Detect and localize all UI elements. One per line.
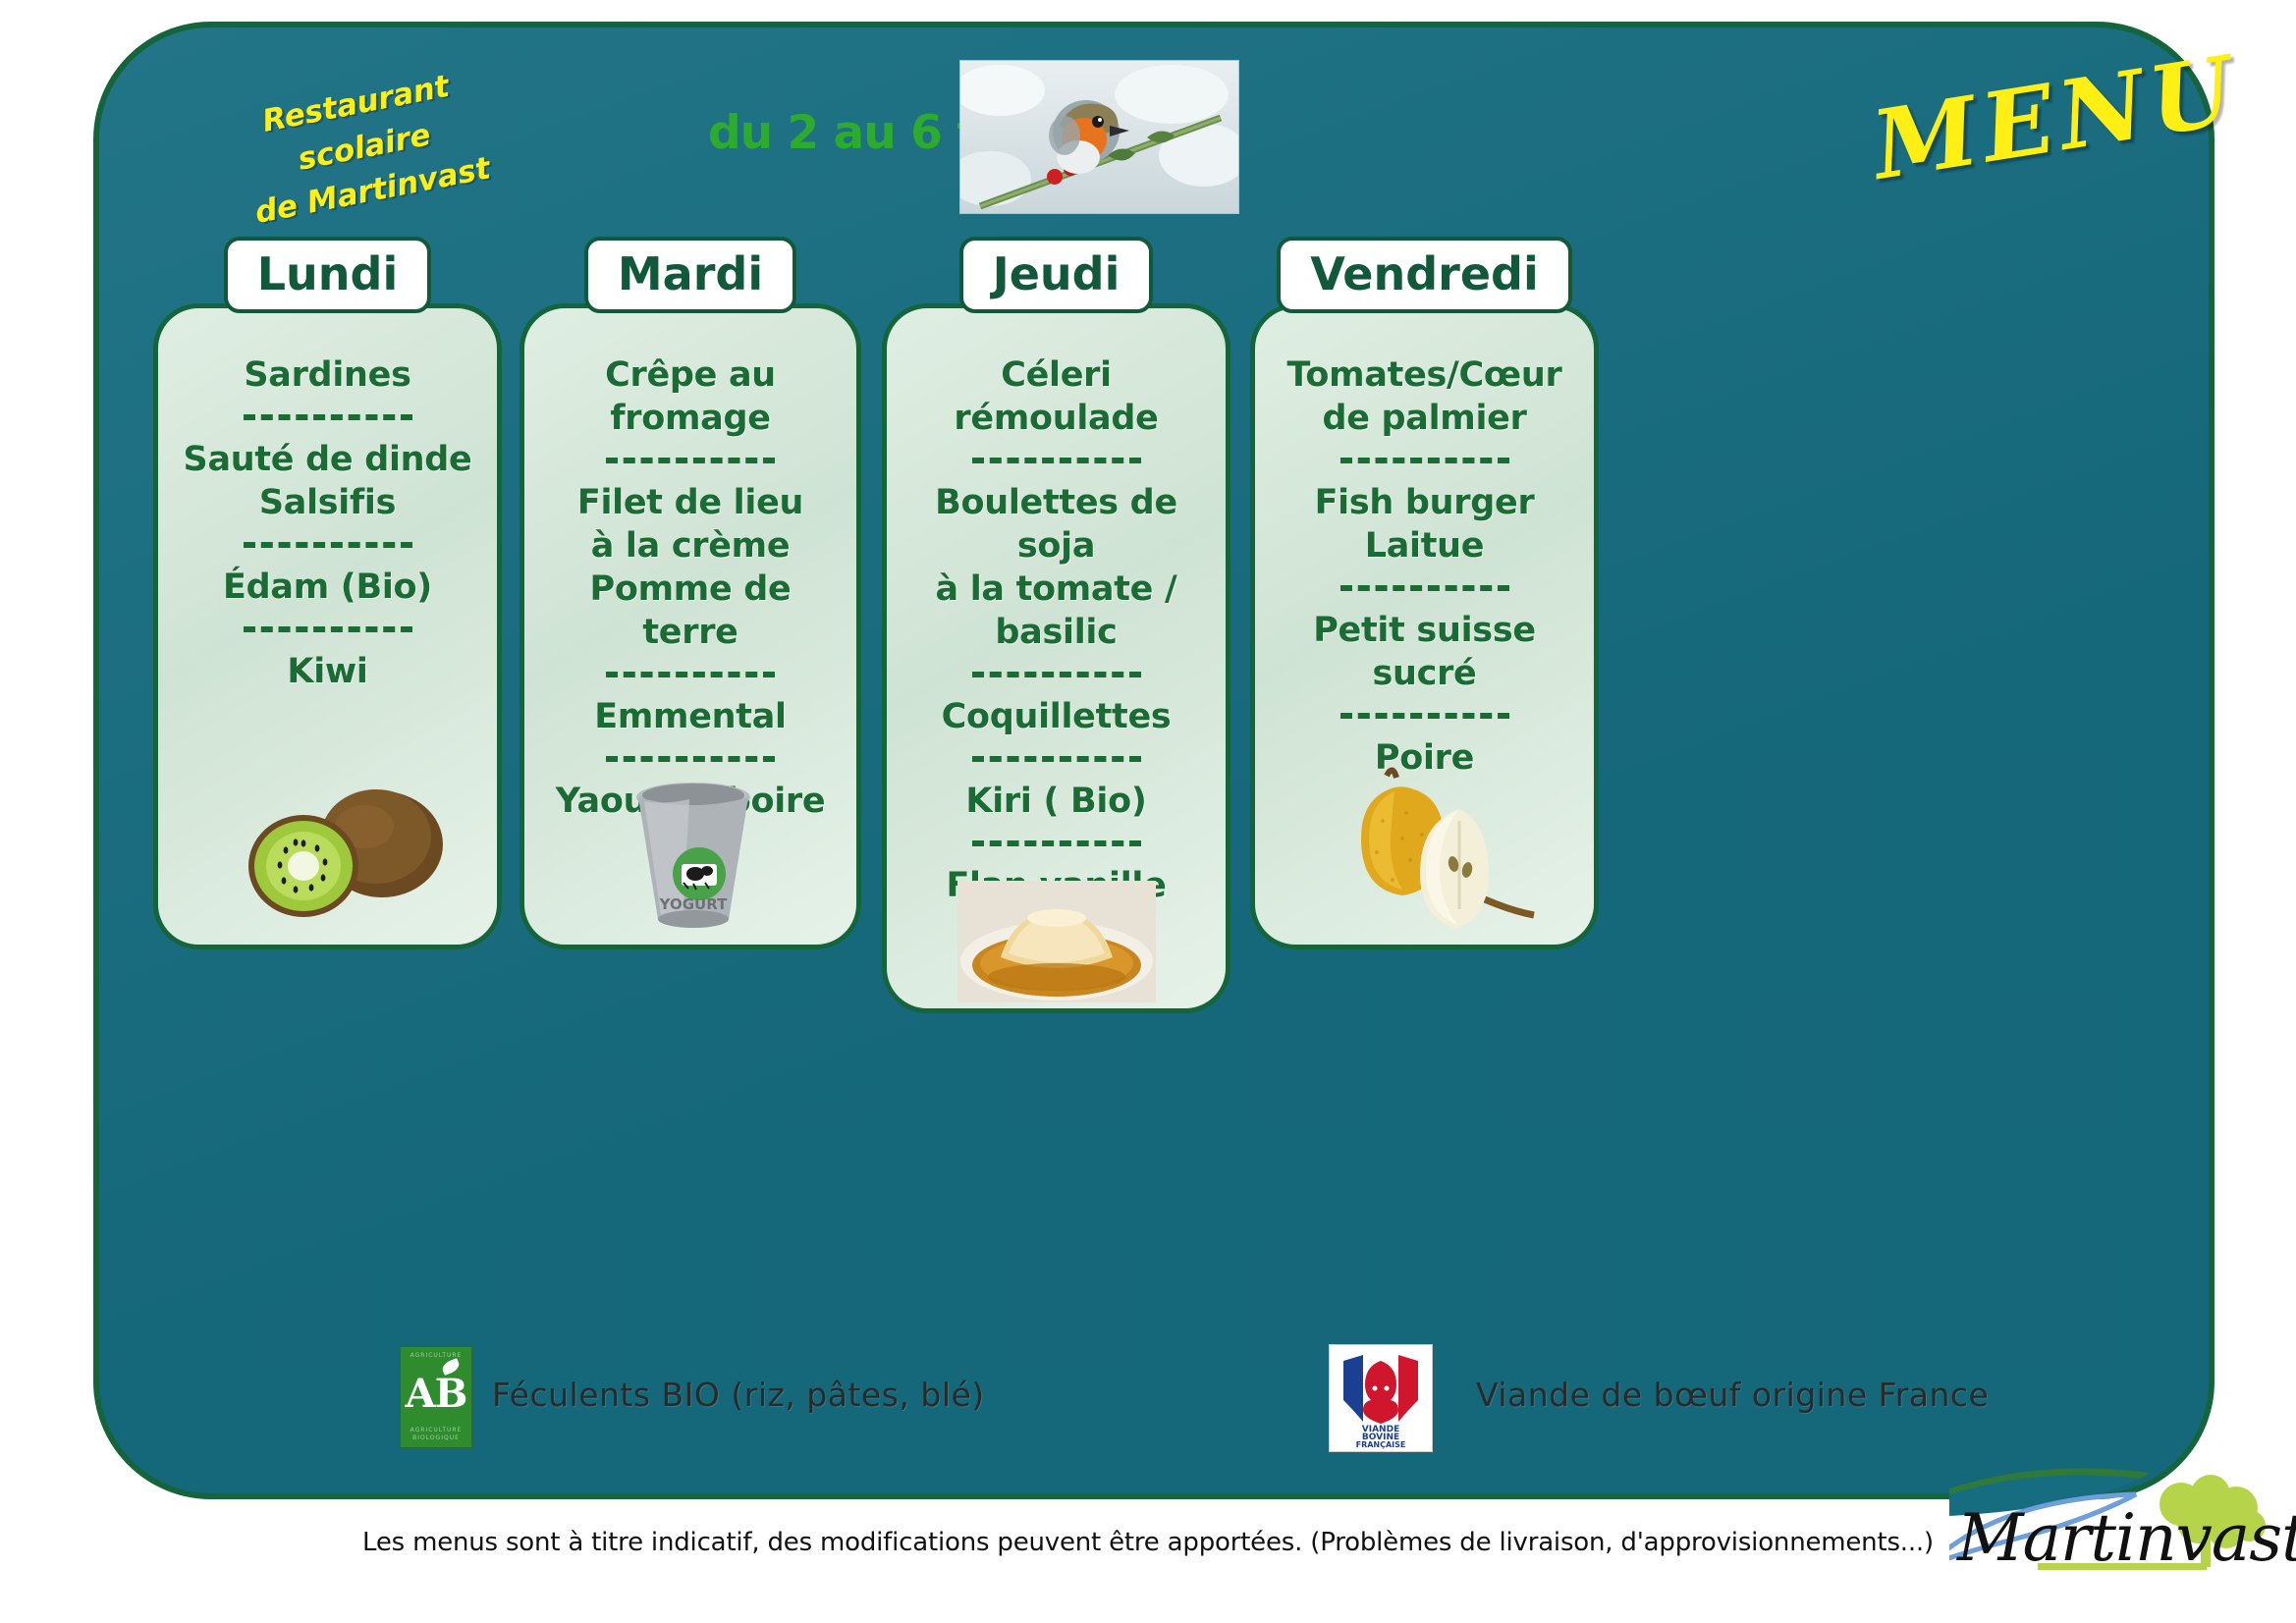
dish-separator xyxy=(1340,713,1509,719)
day-panel-lundi: Sardines Sauté de dindeSalsifis Édam (Bi… xyxy=(153,303,502,949)
svg-text:YOGURT: YOGURT xyxy=(659,895,728,913)
dish-item: Filet de lieuà la crèmePomme de terre xyxy=(536,481,845,654)
dish-item: Kiwi xyxy=(170,650,485,693)
ab-logo-label: AB xyxy=(401,1371,471,1417)
dish-separator xyxy=(972,840,1141,846)
day-tab-lundi: Lundi xyxy=(224,237,432,313)
kiwi-illustration xyxy=(235,768,451,939)
dish-item: Sauté de dindeSalsifis xyxy=(170,438,485,524)
dish-item: Fish burgerLaitue xyxy=(1267,481,1582,568)
dish-item: Céleri rémoulade xyxy=(899,353,1214,440)
day-column-vendredi: Vendredi Tomates/Cœurde palmier Fish bur… xyxy=(1250,237,1599,949)
ab-bio-logo: AGRICULTURE AB AGRICULTUREBIOLOGIQUE xyxy=(400,1346,472,1448)
menu-wordmark: MENU xyxy=(1794,23,2296,247)
day-tab-jeudi: Jeudi xyxy=(959,237,1154,313)
dish-item: Petit suisse sucré xyxy=(1267,609,1582,695)
day-column-mardi: Mardi Crêpe au fromage Filet de lieuà la… xyxy=(519,237,861,949)
beef-origin-caption: Viande de bœuf origine France xyxy=(1476,1376,1989,1414)
dish-separator xyxy=(606,756,775,762)
dish-item: Boulettes de sojaà la tomate / basilic xyxy=(899,481,1214,654)
day-tab-mardi: Mardi xyxy=(584,237,796,313)
svg-text:FRANÇAISE: FRANÇAISE xyxy=(1356,1440,1406,1449)
footer-strip: AGRICULTURE AB AGRICULTUREBIOLOGIQUE Féc… xyxy=(99,1346,2209,1454)
dish-item: Tomates/Cœurde palmier xyxy=(1267,353,1582,440)
dish-item: Sardines xyxy=(170,353,485,397)
dish-separator xyxy=(972,756,1141,762)
poster-card: Restaurant scolaire de Martinvast du 2 a… xyxy=(93,22,2214,1499)
dish-separator xyxy=(1340,458,1509,463)
dish-separator xyxy=(1340,585,1509,591)
martinvast-town-logo: Martinvast xyxy=(1949,1465,2288,1612)
martinvast-logo-text: Martinvast xyxy=(1957,1500,2296,1576)
day-panel-jeudi: Céleri rémoulade Boulettes de sojaà la t… xyxy=(882,303,1230,1013)
dish-separator xyxy=(972,458,1141,463)
menu-poster: Restaurant scolaire de Martinvast du 2 a… xyxy=(0,0,2296,1623)
ab-logo-top-text: AGRICULTURE xyxy=(401,1352,471,1359)
yogurt-cup-illustration: YOGURT xyxy=(615,770,772,941)
dish-separator xyxy=(606,458,775,463)
day-panel-vendredi: Tomates/Cœurde palmier Fish burgerLaitue… xyxy=(1250,303,1599,949)
ab-logo-bottom-text: AGRICULTUREBIOLOGIQUE xyxy=(401,1427,471,1442)
day-tab-vendredi: Vendredi xyxy=(1277,237,1572,313)
day-column-jeudi: Jeudi Céleri rémoulade Boulettes de soja… xyxy=(882,237,1230,1013)
viande-bovine-francaise-logo: VIANDE BOVINE FRANÇAISE xyxy=(1329,1344,1433,1452)
robin-in-snow-photo xyxy=(959,60,1239,214)
day-column-lundi: Lundi Sardines Sauté de dindeSalsifis Éd… xyxy=(153,237,502,949)
dish-separator xyxy=(972,672,1141,677)
bio-caption: Féculents BIO (riz, pâtes, blé) xyxy=(492,1376,985,1414)
dish-item: Emmental xyxy=(536,695,845,738)
caramel-flan-photo xyxy=(957,881,1156,1006)
dish-separator xyxy=(606,672,775,677)
day-panel-mardi: Crêpe au fromage Filet de lieuà la crème… xyxy=(519,303,861,949)
pear-illustration xyxy=(1312,762,1548,939)
dish-separator xyxy=(244,626,412,632)
dish-item: Édam (Bio) xyxy=(170,566,485,609)
vbf-logo-graphic: VIANDE BOVINE FRANÇAISE xyxy=(1330,1345,1432,1451)
dish-item: Crêpe au fromage xyxy=(536,353,845,440)
dish-separator xyxy=(244,414,412,420)
dish-item: Coquillettes xyxy=(899,695,1214,738)
dish-item: Kiri ( Bio) xyxy=(899,780,1214,823)
robin-photo-graphic xyxy=(960,61,1239,214)
dish-separator xyxy=(244,542,412,548)
school-name: Restaurant scolaire de Martinvast xyxy=(192,52,536,243)
